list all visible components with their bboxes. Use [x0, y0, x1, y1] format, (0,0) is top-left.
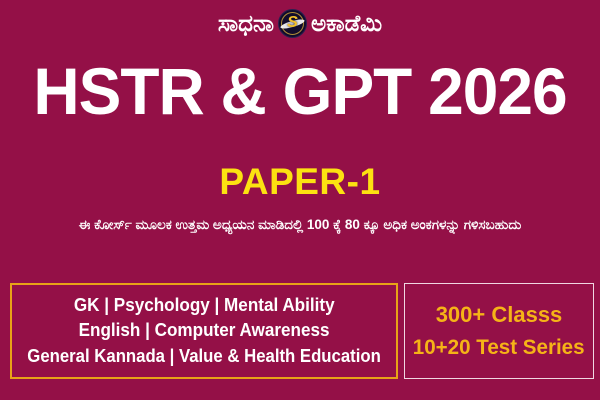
page-title: HSTR & GPT 2026	[9, 58, 591, 124]
paper-label: PAPER-1	[0, 163, 600, 200]
logo-letter: S	[287, 15, 298, 31]
subjects-line-1: GK | Psychology | Mental Ability	[74, 294, 335, 317]
stats-box: 300+ Classs 10+20 Test Series	[404, 283, 594, 379]
subjects-line-3: General Kannada | Value & Health Educati…	[27, 345, 381, 368]
tagline-kannada: ಈ ಕೋರ್ಸ್ ಮೂಲಕ ಉತ್ತಮ ಅಧ್ಯಯನ ಮಾಡಿದಲ್ಲಿ 100…	[0, 217, 600, 234]
subjects-box: GK | Psychology | Mental Ability English…	[10, 283, 398, 379]
brand-name-kannada-left: ಸಾಧನಾ	[218, 12, 274, 35]
subjects-line-2: English | Computer Awareness	[79, 319, 330, 342]
brand-header: ಸಾಧನಾ S ಅಕಾಡೆಮಿ	[0, 4, 600, 42]
stat-test-series: 10+20 Test Series	[413, 336, 585, 359]
brand-name-kannada-right: ಅಕಾಡೆಮಿ	[311, 12, 382, 35]
sadhana-academy-logo-icon: S	[278, 9, 307, 38]
stat-class-count: 300+ Classs	[436, 303, 563, 327]
course-promo-poster: ಸಾಧನಾ S ಅಕಾಡೆಮಿ HSTR & GPT 2026 PAPER-1 …	[0, 0, 600, 400]
